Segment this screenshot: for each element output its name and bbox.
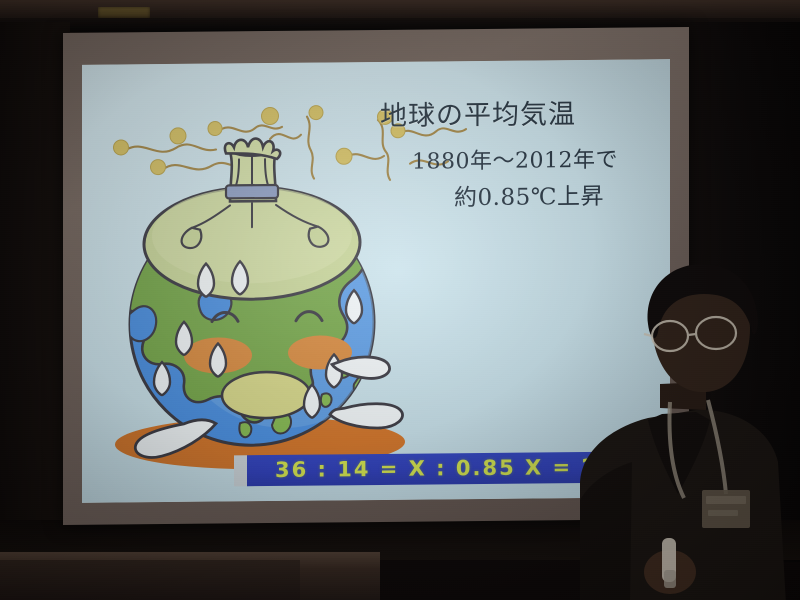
slide-subtitle-line-2: 約0.85℃上昇	[454, 177, 604, 212]
slide-title: 地球の平均気温	[380, 92, 576, 133]
greenhouse-cloth-cap	[144, 138, 360, 301]
slide-subtitle-line-1: 1880年～2012年で	[412, 142, 618, 176]
banner-left-edge	[234, 455, 247, 486]
screenshot-root: 地球の平均気温 1880年～2012年で 約0.85℃上昇 36 : 14 = …	[0, 0, 800, 600]
rail-label-tag	[98, 7, 150, 18]
earth-mouth	[222, 372, 310, 419]
earth-character-illustration	[100, 121, 430, 474]
cloth-band	[226, 185, 278, 198]
name-badge	[702, 490, 750, 528]
wall-left-dark	[0, 22, 70, 542]
desk-edge-front	[0, 560, 300, 600]
presenter	[520, 232, 800, 600]
